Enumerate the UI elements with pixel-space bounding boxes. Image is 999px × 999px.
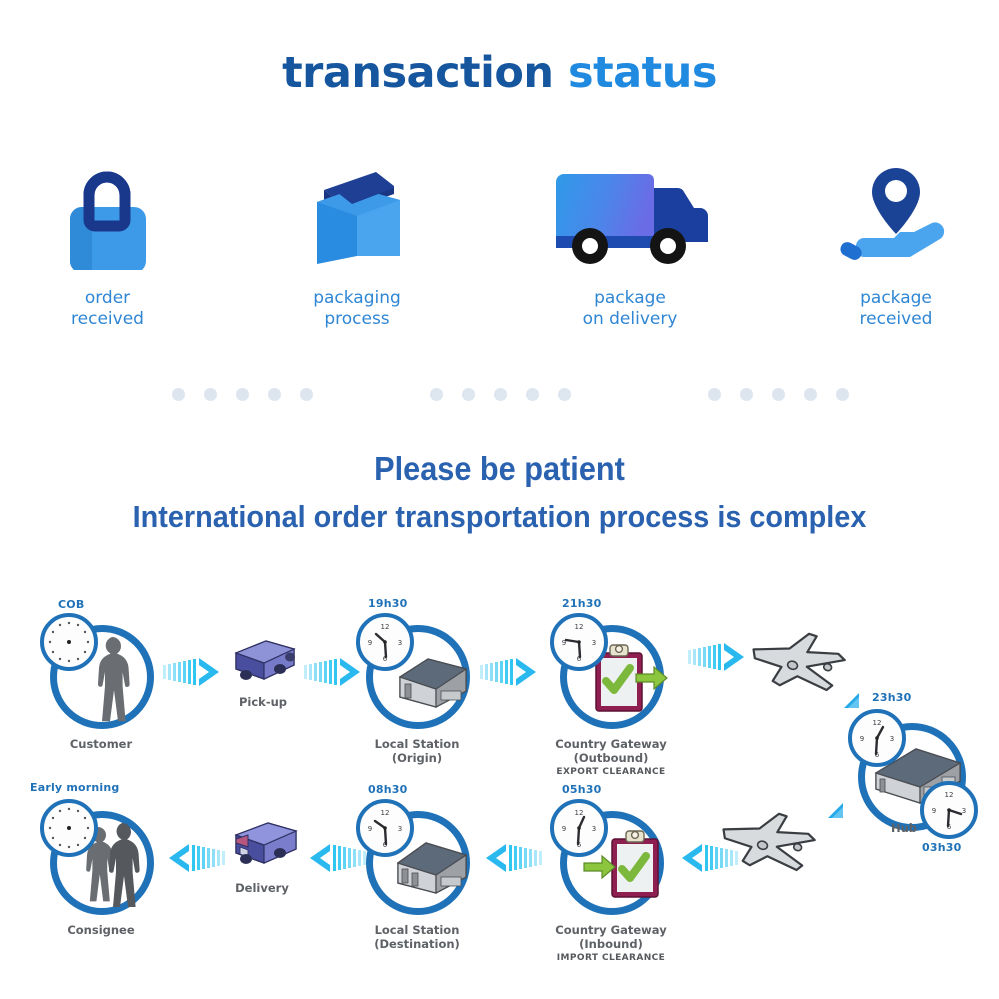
- dot: [708, 388, 721, 401]
- tracker-stage-order-received[interactable]: order received: [25, 160, 190, 330]
- svg-text:9: 9: [562, 825, 566, 833]
- clock-icon-arrival: 12 3 6 9: [848, 709, 906, 767]
- node-label-pickup: Pick-up: [222, 695, 304, 709]
- dot: [430, 388, 443, 401]
- svg-text:12: 12: [381, 809, 390, 817]
- heading-please-be-patient: Please be patient: [35, 450, 964, 488]
- dot: [236, 388, 249, 401]
- clock-icon: 12 3 6 9: [356, 613, 414, 671]
- flow-node-country-gateway-inbound[interactable]: 12 3 6 9 05h30: [552, 803, 670, 921]
- svg-text:3: 3: [398, 639, 402, 647]
- svg-text:12: 12: [945, 791, 954, 799]
- flow-arrow-left-1: [163, 843, 225, 878]
- open-box-icon: [272, 160, 442, 270]
- flow-arrow-right-1: [163, 657, 225, 692]
- tracker-stage-package-on-delivery[interactable]: package on delivery: [535, 160, 725, 330]
- shopping-bag-icon: [25, 160, 190, 270]
- flow-arrow-right-2: [304, 657, 366, 692]
- svg-text:9: 9: [368, 639, 372, 647]
- clock-icon: 12 3 6 9: [550, 613, 608, 671]
- tracker-label-order-received: order received: [25, 288, 190, 330]
- flow-arrow-right-3: [480, 657, 542, 692]
- svg-text:12: 12: [575, 623, 584, 631]
- dot: [772, 388, 785, 401]
- time-label-cob: COB: [58, 598, 84, 611]
- time-label-early-morning: Early morning: [30, 781, 119, 794]
- flow-arrow-left-4: [676, 843, 738, 878]
- svg-text:12: 12: [873, 719, 882, 727]
- clock-icon-departure: 12 3 6 9: [920, 781, 978, 839]
- svg-text:12: 12: [575, 809, 584, 817]
- hand-location-pin-icon: [812, 160, 980, 270]
- svg-text:3: 3: [592, 639, 596, 647]
- node-label-country-gateway-outbound: Country Gateway (Outbound) EXPORT CLEARA…: [526, 737, 696, 779]
- flow-arrow-left-3: [480, 843, 542, 878]
- node-label-local-station-destination: Local Station (Destination): [326, 923, 508, 951]
- flow-node-country-gateway-outbound[interactable]: 12 3 6 9 21h30: [552, 617, 670, 735]
- node-label-customer: Customer: [36, 737, 166, 751]
- page-title: transaction status: [0, 48, 999, 98]
- node-label-local-station-origin: Local Station (Origin): [332, 737, 502, 765]
- clock-icon: [40, 613, 98, 671]
- time-label-23h30: 23h30: [872, 691, 911, 704]
- dot: [526, 388, 539, 401]
- dot: [300, 388, 313, 401]
- flow-node-consignee[interactable]: Early morning Consignee: [42, 803, 160, 921]
- svg-text:9: 9: [368, 825, 372, 833]
- transport-flow-diagram: COB Customer: [0, 585, 999, 985]
- tracker-connector-dots-3: [708, 388, 849, 401]
- dot: [204, 388, 217, 401]
- flow-node-delivery[interactable]: Delivery: [218, 817, 316, 882]
- dot: [494, 388, 507, 401]
- svg-text:3: 3: [398, 825, 402, 833]
- dot: [172, 388, 185, 401]
- time-label-03h30: 03h30: [922, 841, 961, 854]
- delivery-van-icon: [218, 817, 306, 877]
- svg-text:3: 3: [962, 807, 966, 815]
- heading-international-order: International order transportation proce…: [35, 499, 964, 535]
- poster-canvas: transaction status order received: [0, 0, 999, 999]
- clock-icon: 12 3 6 9: [356, 799, 414, 857]
- node-label-delivery: Delivery: [218, 881, 306, 895]
- tracker-stage-package-received[interactable]: package received: [812, 160, 980, 330]
- dot: [740, 388, 753, 401]
- time-label-21h30: 21h30: [562, 597, 601, 610]
- flow-node-customer[interactable]: COB Customer: [42, 617, 160, 735]
- svg-text:9: 9: [860, 735, 864, 743]
- dot: [462, 388, 475, 401]
- transaction-status-tracker: order received: [0, 160, 999, 360]
- time-label-08h30: 08h30: [368, 783, 407, 796]
- flow-node-local-station-destination[interactable]: 12 3 6 9 08h: [358, 803, 476, 921]
- clock-icon: 12 3 6 9: [550, 799, 608, 857]
- dot: [836, 388, 849, 401]
- svg-text:9: 9: [932, 807, 936, 815]
- svg-text:3: 3: [592, 825, 596, 833]
- dot: [804, 388, 817, 401]
- svg-text:12: 12: [381, 623, 390, 631]
- flow-arrow-right-4: [688, 642, 750, 677]
- dot: [558, 388, 571, 401]
- clock-icon: [40, 799, 98, 857]
- tracker-connector-dots-2: [430, 388, 571, 401]
- flow-node-hub[interactable]: 12 3 6 9 12 3 6 9: [848, 713, 978, 843]
- flow-node-local-station-origin[interactable]: 12 3 6 9 19h30: [358, 617, 476, 735]
- tracker-label-package-on-delivery: package on delivery: [535, 288, 725, 330]
- middle-headings: Please be patient International order tr…: [0, 450, 999, 535]
- node-label-country-gateway-inbound: Country Gateway (Inbound) IMPORT CLEARAN…: [526, 923, 696, 965]
- tracker-stage-packaging-process[interactable]: packaging process: [272, 160, 442, 330]
- node-label-consignee: Consignee: [36, 923, 166, 937]
- svg-text:3: 3: [890, 735, 894, 743]
- tracker-label-package-received: package received: [812, 288, 980, 330]
- time-label-05h30: 05h30: [562, 783, 601, 796]
- tracker-connector-dots-1: [172, 388, 313, 401]
- delivery-truck-icon: [535, 160, 725, 270]
- pickup-truck-icon: [222, 633, 304, 689]
- dot: [268, 388, 281, 401]
- page-title-part2: status: [568, 48, 717, 98]
- flow-node-pickup[interactable]: Pick-up: [222, 633, 314, 694]
- time-label-19h30: 19h30: [368, 597, 407, 610]
- page-title-part1: transaction: [282, 48, 553, 98]
- tracker-label-packaging-process: packaging process: [272, 288, 442, 330]
- signal-icon-inbound: [822, 797, 848, 828]
- flow-arrow-left-2: [304, 843, 366, 878]
